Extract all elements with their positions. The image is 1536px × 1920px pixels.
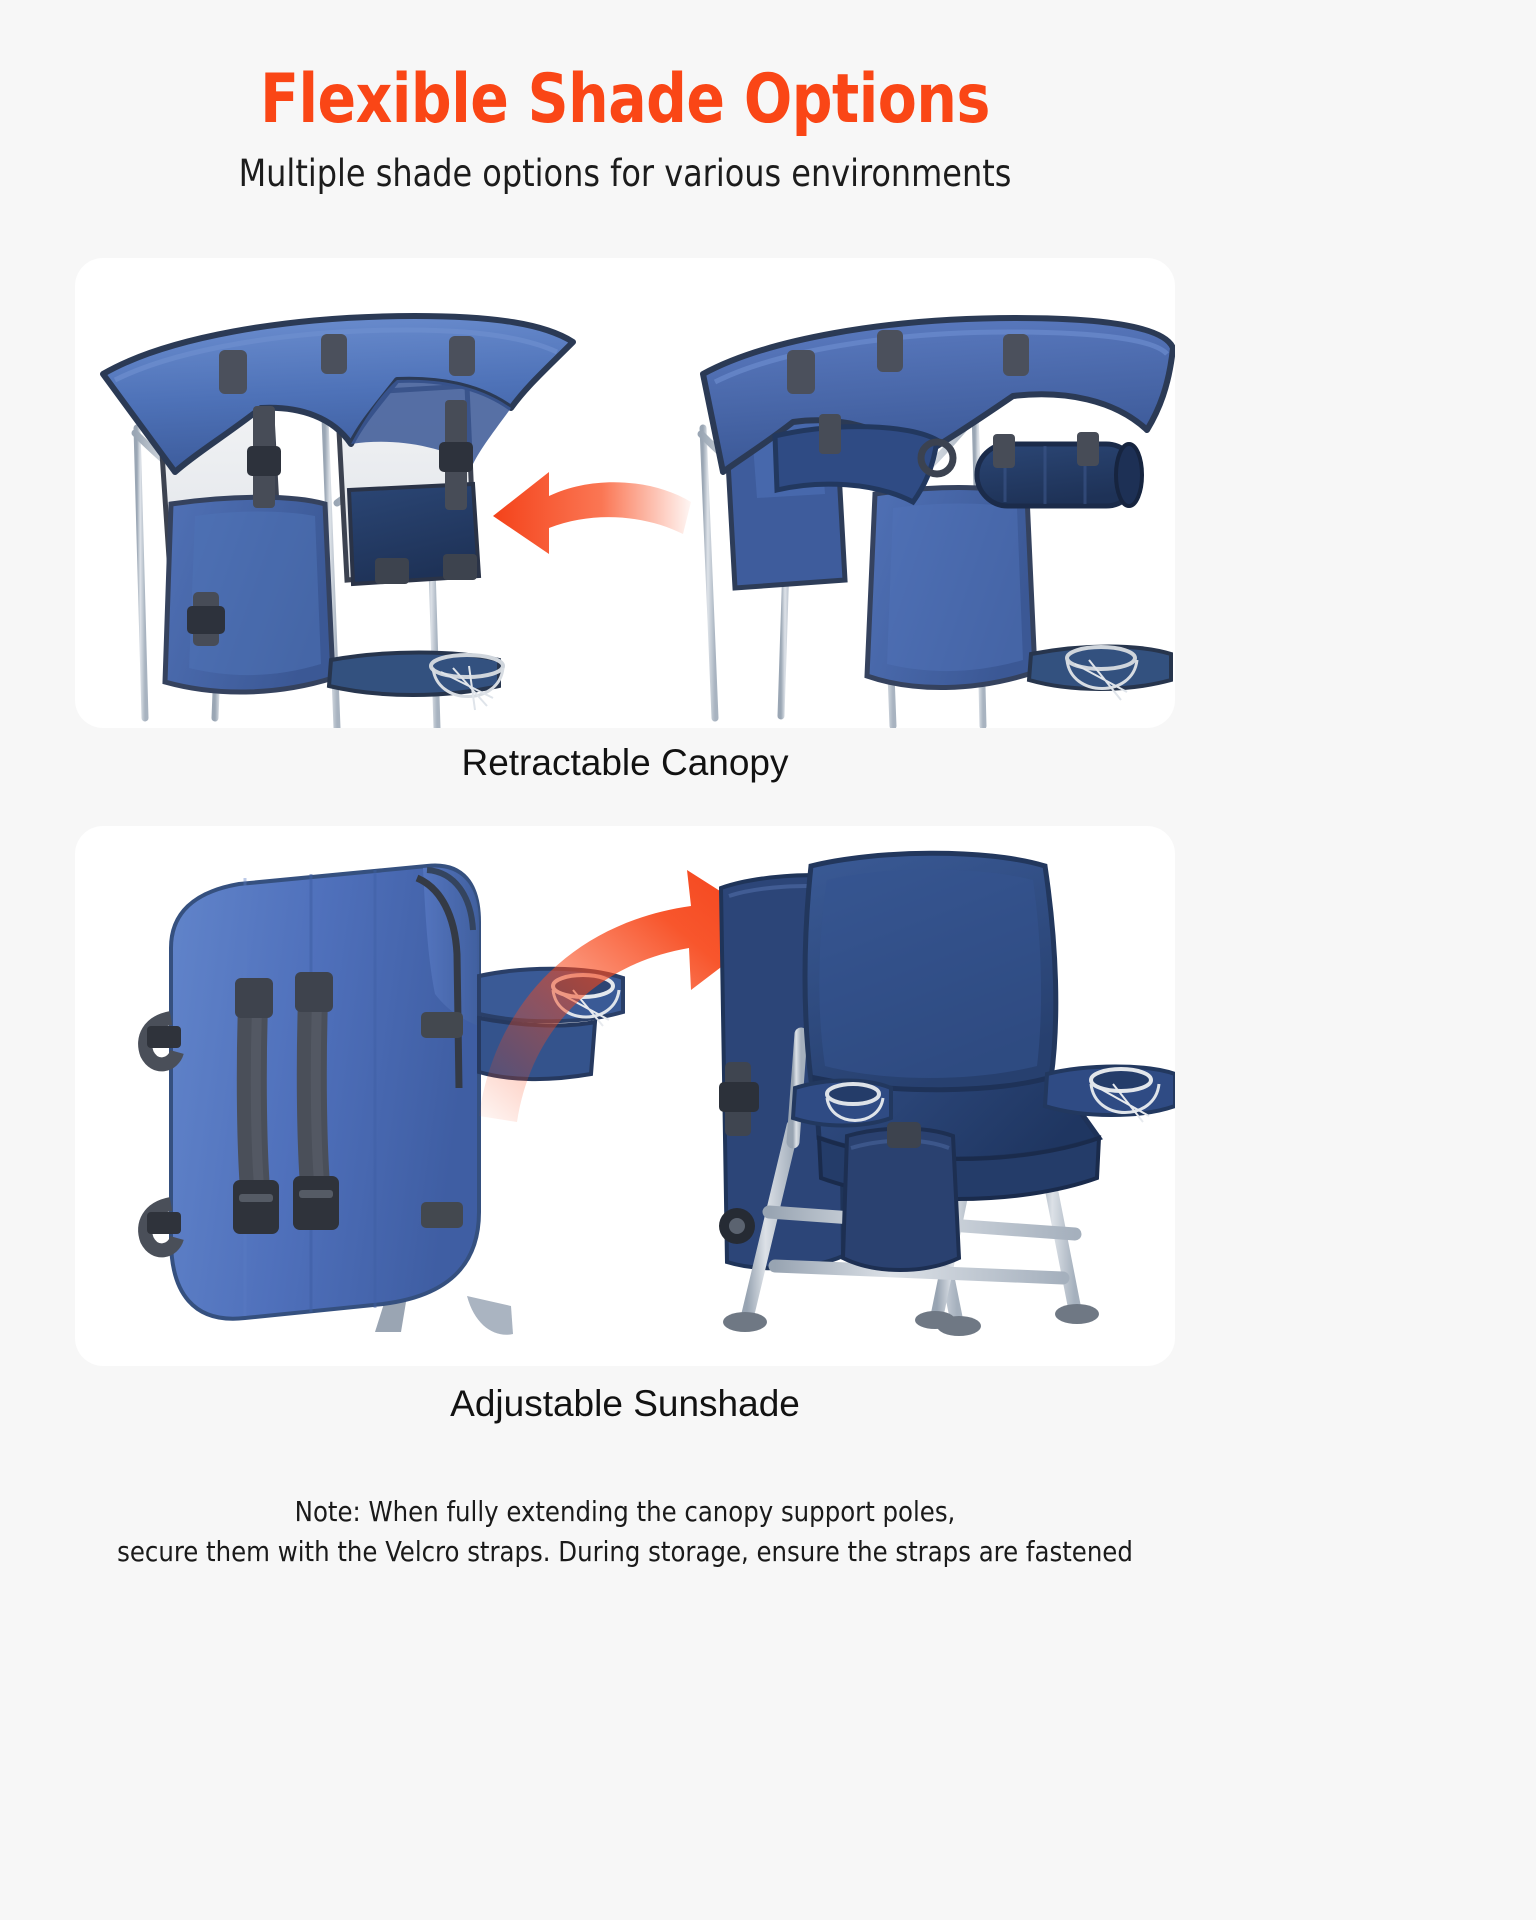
buckle xyxy=(247,446,281,476)
side-webbing xyxy=(421,1012,463,1038)
side-cooler-bag xyxy=(843,1129,959,1271)
footer-note-line-2: secure them with the Velcro straps. Duri… xyxy=(19,1532,1232,1572)
velcro-strap-tab xyxy=(1003,334,1029,376)
velcro-strap-tab xyxy=(877,330,903,372)
velcro-strap-tab xyxy=(787,350,815,394)
strap-buckle xyxy=(233,1180,279,1234)
bundle-strap xyxy=(993,434,1015,468)
rolled-canopy-bundle xyxy=(977,432,1142,506)
caption-retractable-canopy: Retractable Canopy xyxy=(0,742,1250,784)
buckle xyxy=(439,442,473,472)
footer-note-line-1: Note: When fully extending the canopy su… xyxy=(19,1492,1232,1532)
header: Flexible Shade Options Multiple shade op… xyxy=(0,0,1250,195)
velcro-strap-tab xyxy=(219,350,247,394)
caption-adjustable-sunshade: Adjustable Sunshade xyxy=(0,1383,1250,1425)
side-webbing xyxy=(421,1202,463,1228)
adjustable-sunshade-illustration xyxy=(75,826,1175,1366)
page-subtitle: Multiple shade options for various envir… xyxy=(25,152,1225,195)
bundle-strap xyxy=(1077,432,1099,466)
velcro-strap-tab xyxy=(449,336,475,376)
velcro-strap-tab xyxy=(321,334,347,374)
chair-canopy-rolled xyxy=(701,318,1173,726)
card-adjustable-sunshade xyxy=(75,826,1175,1366)
chair-packed-carry-bag xyxy=(145,866,623,1335)
bag-foot xyxy=(467,1296,513,1335)
chair-feet xyxy=(723,1304,1099,1336)
page-title: Flexible Shade Options xyxy=(44,66,1207,134)
card-retractable-canopy xyxy=(75,258,1175,728)
footer-note: Note: When fully extending the canopy su… xyxy=(19,1492,1232,1572)
retractable-canopy-illustration xyxy=(75,258,1175,728)
infographic-page: Flexible Shade Options Multiple shade op… xyxy=(0,0,1250,1920)
strap-buckle xyxy=(293,1176,339,1230)
buckle xyxy=(187,606,225,634)
transition-arrow-left xyxy=(493,472,691,554)
chair-unfolded-with-cooler xyxy=(719,853,1175,1336)
